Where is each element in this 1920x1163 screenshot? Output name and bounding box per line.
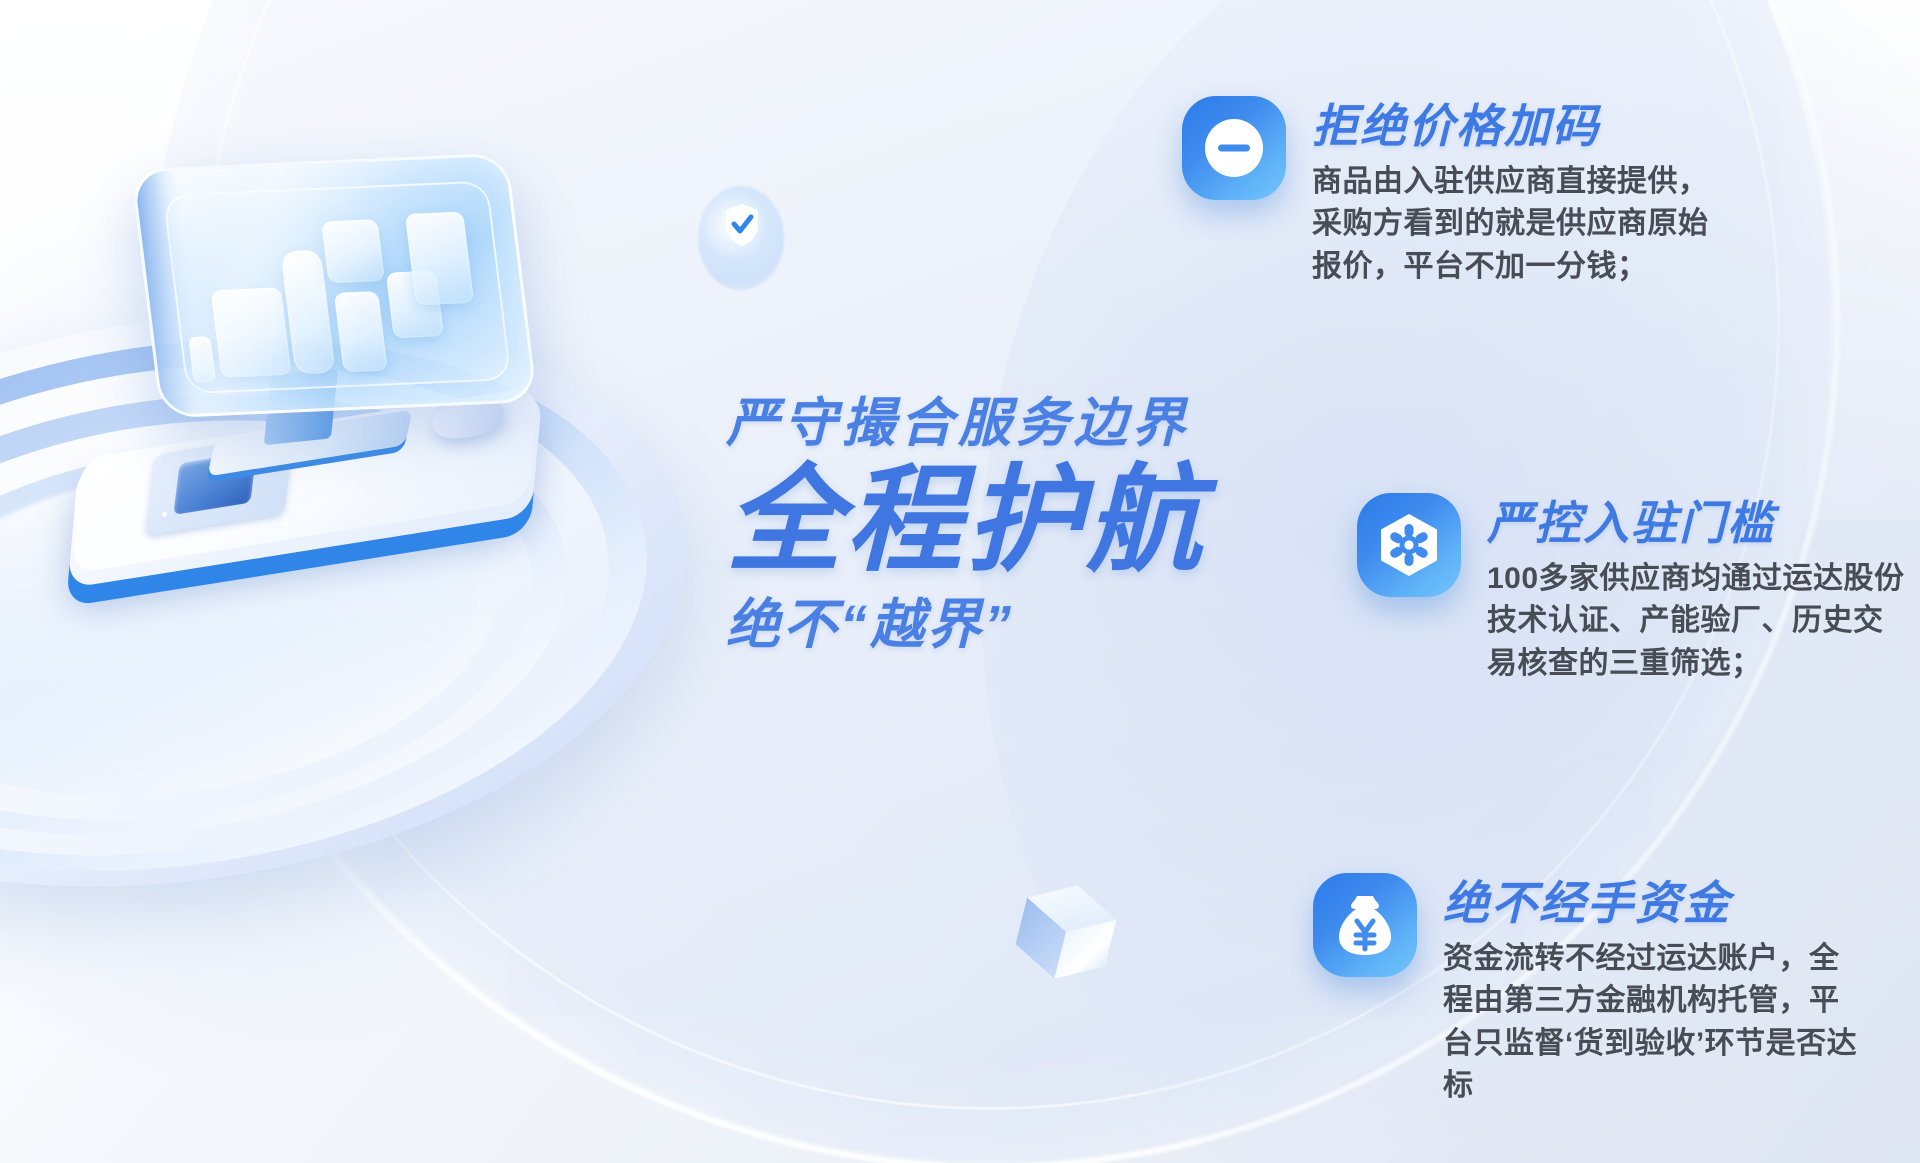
headline-group: 严守撮合服务边界 全程护航 绝不“越界” bbox=[726, 396, 1366, 654]
minus-circle-icon bbox=[1203, 117, 1265, 179]
promo-banner: 严守撮合服务边界 全程护航 绝不“越界” 拒绝价格加码 商品由入驻供应商直接提供… bbox=[0, 0, 1920, 1163]
chip-screw-dot bbox=[284, 521, 289, 526]
floating-cube-icon bbox=[1012, 878, 1120, 986]
feature-description: 商品由入驻供应商直接提供，采购方看到的就是供应商原始报价，平台不加一分钱； bbox=[1312, 161, 1712, 289]
feature-title: 严控入驻门槛 bbox=[1487, 499, 1907, 549]
hexagon-gear-shield-icon bbox=[1377, 512, 1441, 578]
feature-title: 绝不经手资金 bbox=[1443, 879, 1863, 929]
feature-icon-wrapper bbox=[1357, 493, 1461, 597]
feature-description: 资金流转不经过运达账户，全程由第三方金融机构托管，平台只监督‘货到验收’环节是否… bbox=[1443, 938, 1863, 1108]
hero-illustration bbox=[0, 0, 760, 1163]
shield-check-icon bbox=[723, 202, 761, 248]
feature-icon-wrapper bbox=[1182, 96, 1286, 200]
feature-description: 100多家供应商均通过运达股份技术认证、产能验厂、历史交易核查的三重筛选； bbox=[1487, 558, 1907, 686]
feature-text-group: 拒绝价格加码 商品由入驻供应商直接提供，采购方看到的就是供应商原始报价，平台不加… bbox=[1312, 96, 1712, 288]
headline-line-2: 全程护航 bbox=[726, 458, 1366, 583]
feature-text-group: 严控入驻门槛 100多家供应商均通过运达股份技术认证、产能验厂、历史交易核查的三… bbox=[1487, 493, 1907, 685]
chip-screw-dot bbox=[156, 451, 161, 456]
glass-monitor bbox=[130, 153, 537, 419]
headline-line-3: 绝不“越界” bbox=[726, 597, 1366, 654]
feature-item-entry-threshold[interactable]: 严控入驻门槛 100多家供应商均通过运达股份技术认证、产能验厂、历史交易核查的三… bbox=[1357, 493, 1907, 685]
headline-line-1: 严守撮合服务边界 bbox=[726, 396, 1366, 452]
feature-item-funds[interactable]: 绝不经手资金 资金流转不经过运达账户，全程由第三方金融机构托管，平台只监督‘货到… bbox=[1313, 873, 1863, 1108]
feature-icon-wrapper bbox=[1313, 873, 1417, 977]
screen-block bbox=[405, 212, 474, 306]
money-bag-yuan-icon bbox=[1335, 892, 1395, 958]
feature-text-group: 绝不经手资金 资金流转不经过运达账户，全程由第三方金融机构托管，平台只监督‘货到… bbox=[1443, 873, 1863, 1108]
feature-title: 拒绝价格加码 bbox=[1312, 102, 1712, 152]
chip-screw-dot bbox=[162, 512, 167, 517]
feature-item-price[interactable]: 拒绝价格加码 商品由入驻供应商直接提供，采购方看到的就是供应商原始报价，平台不加… bbox=[1182, 96, 1712, 288]
